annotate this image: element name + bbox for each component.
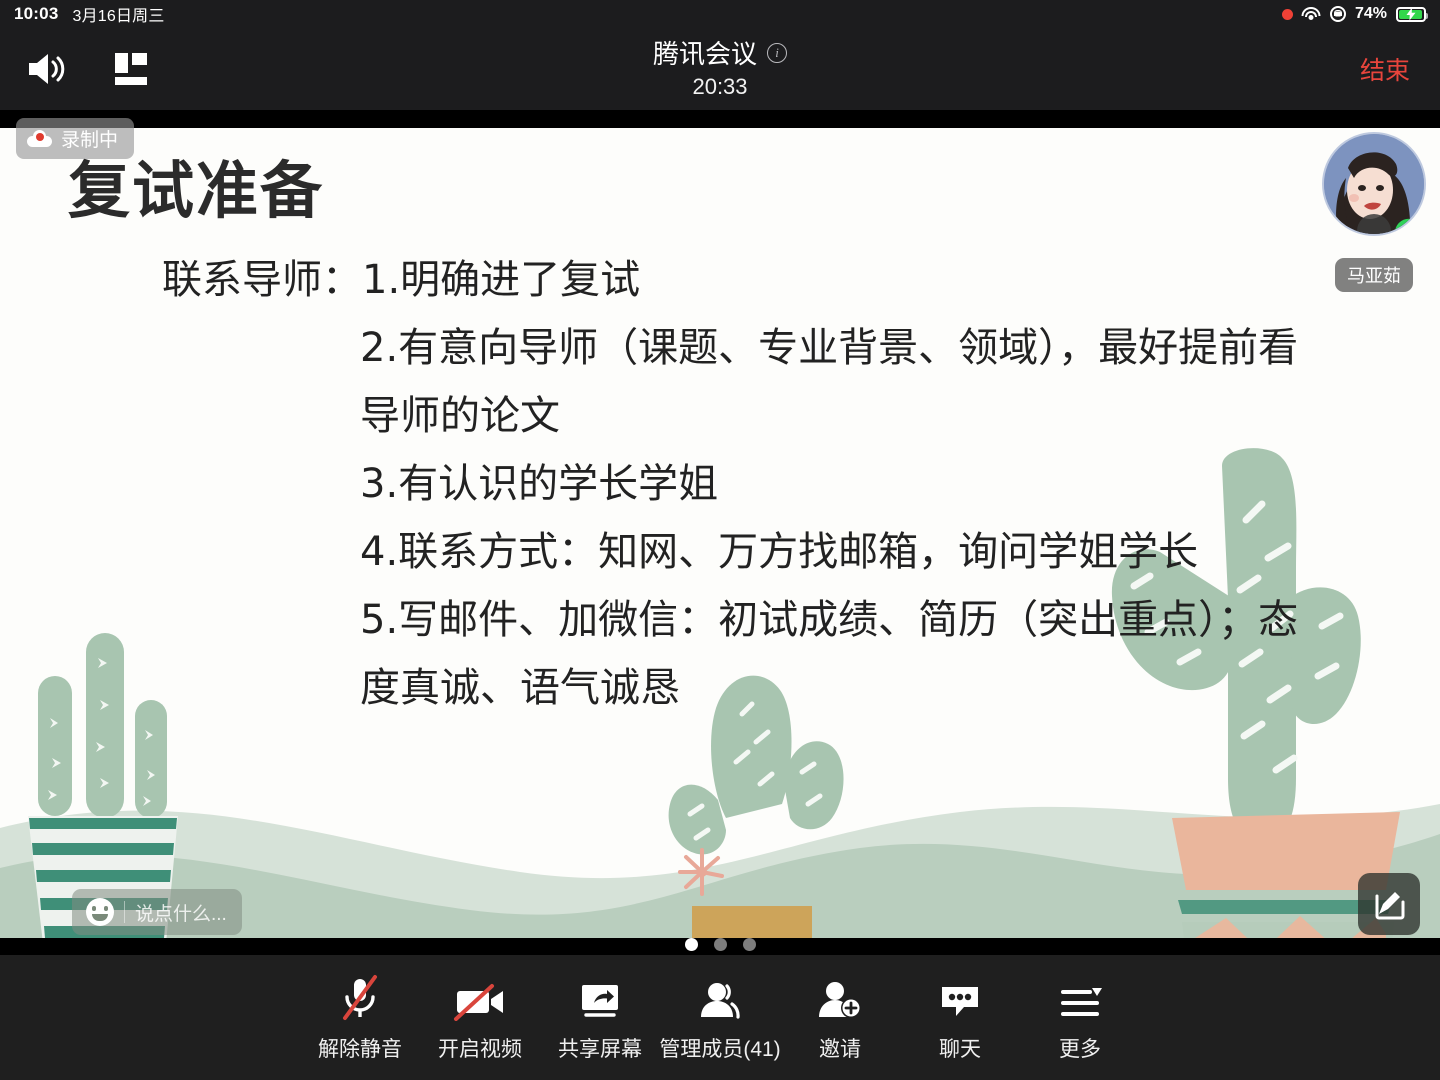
page-indicator[interactable] bbox=[0, 938, 1440, 951]
meeting-title-block: 腾讯会议 i 20:33 bbox=[0, 34, 1440, 100]
self-video-tile[interactable]: 马亚茹 bbox=[1316, 132, 1432, 292]
toolbar-label: 邀请 bbox=[819, 1033, 861, 1063]
meeting-header-left bbox=[22, 47, 158, 91]
cloud-recording-icon bbox=[27, 130, 52, 147]
slide-line: 3.有认识的学长学姐 bbox=[162, 450, 1342, 518]
toolbar-label: 共享屏幕 bbox=[558, 1033, 642, 1063]
chat-bubble-icon bbox=[936, 973, 984, 1021]
toolbar-item-chat[interactable]: 聊天 bbox=[900, 973, 1020, 1063]
toolbar-item-start-video[interactable]: 开启视频 bbox=[420, 973, 540, 1063]
status-time: 10:03 bbox=[14, 4, 58, 24]
status-date: 3月16日周三 bbox=[72, 2, 164, 26]
meeting-toolbar: 解除静音 开启视频 共享屏幕 bbox=[0, 955, 1440, 1080]
chat-input-placeholder: 说点什么... bbox=[135, 899, 227, 926]
status-bar-right: 74% bbox=[1282, 5, 1426, 23]
meeting-title-row: 腾讯会议 i bbox=[653, 34, 787, 71]
divider bbox=[124, 901, 125, 923]
recording-label: 录制中 bbox=[61, 125, 118, 152]
rotation-lock-icon bbox=[1330, 6, 1346, 22]
toolbar-item-unmute[interactable]: 解除静音 bbox=[300, 973, 420, 1063]
participant-name: 马亚茹 bbox=[1335, 258, 1413, 292]
speaker-volume-icon[interactable] bbox=[22, 47, 76, 91]
meeting-elapsed-time: 20:33 bbox=[0, 74, 1440, 100]
page-dot[interactable] bbox=[743, 938, 756, 951]
camera-off-icon bbox=[453, 973, 507, 1021]
toolbar-label: 解除静音 bbox=[318, 1033, 402, 1063]
recording-badge[interactable]: 录制中 bbox=[16, 118, 134, 159]
invite-person-icon bbox=[816, 973, 864, 1021]
microphone-on-icon bbox=[1357, 214, 1391, 236]
slide-line: 度真诚、语气诚恳 bbox=[162, 654, 1342, 722]
meeting-header: 腾讯会议 i 20:33 结束 bbox=[0, 28, 1440, 110]
info-icon[interactable]: i bbox=[767, 43, 787, 63]
meeting-screen: 10:03 3月16日周三 74% bbox=[0, 0, 1440, 1080]
record-dot-icon bbox=[1282, 9, 1293, 20]
status-bar: 10:03 3月16日周三 74% bbox=[0, 0, 1440, 28]
slide-line: 联系导师：1.明确进了复试 bbox=[162, 246, 1342, 314]
shared-content-stage[interactable]: 复试准备 联系导师：1.明确进了复试 2.有意向导师（课题、专业背景、领域），最… bbox=[0, 110, 1440, 955]
battery-percent: 74% bbox=[1355, 5, 1387, 23]
slide-line: 2.有意向导师（课题、专业背景、领域），最好提前看 bbox=[162, 314, 1342, 382]
slide-line: 导师的论文 bbox=[162, 382, 1342, 450]
page-dot[interactable] bbox=[685, 938, 698, 951]
battery-charging-icon bbox=[1396, 7, 1426, 22]
pencil-annotate-icon[interactable] bbox=[1358, 873, 1420, 935]
status-bar-left: 10:03 3月16日周三 bbox=[14, 2, 165, 26]
manage-participants-icon bbox=[696, 973, 744, 1021]
toolbar-label: 管理成员(41) bbox=[659, 1033, 780, 1063]
more-menu-icon bbox=[1056, 973, 1104, 1021]
wifi-icon bbox=[1302, 7, 1321, 22]
shared-slide: 复试准备 联系导师：1.明确进了复试 2.有意向导师（课题、专业背景、领域），最… bbox=[0, 128, 1440, 938]
microphone-muted-icon bbox=[336, 973, 384, 1021]
avatar bbox=[1322, 132, 1426, 236]
layout-switch-icon[interactable] bbox=[104, 47, 158, 91]
slide-body: 联系导师：1.明确进了复试 2.有意向导师（课题、专业背景、领域），最好提前看 … bbox=[162, 246, 1342, 722]
toolbar-item-manage-participants[interactable]: 管理成员(41) bbox=[660, 973, 780, 1063]
meeting-title: 腾讯会议 bbox=[653, 34, 757, 71]
slide-line: 5.写邮件、加微信：初试成绩、简历（突出重点）；态 bbox=[162, 586, 1342, 654]
toolbar-item-share-screen[interactable]: 共享屏幕 bbox=[540, 973, 660, 1063]
toolbar-label: 更多 bbox=[1059, 1033, 1101, 1063]
end-meeting-button[interactable]: 结束 bbox=[1352, 47, 1418, 91]
emoji-smile-icon[interactable] bbox=[86, 898, 114, 926]
share-screen-icon bbox=[576, 973, 624, 1021]
toolbar-item-invite[interactable]: 邀请 bbox=[780, 973, 900, 1063]
toolbar-label: 聊天 bbox=[939, 1033, 981, 1063]
chat-input[interactable]: 说点什么... bbox=[72, 889, 242, 935]
toolbar-label: 开启视频 bbox=[438, 1033, 522, 1063]
toolbar-item-more[interactable]: 更多 bbox=[1020, 973, 1140, 1063]
page-dot[interactable] bbox=[714, 938, 727, 951]
slide-line: 4.联系方式：知网、万方找邮箱，询问学姐学长 bbox=[162, 518, 1342, 586]
